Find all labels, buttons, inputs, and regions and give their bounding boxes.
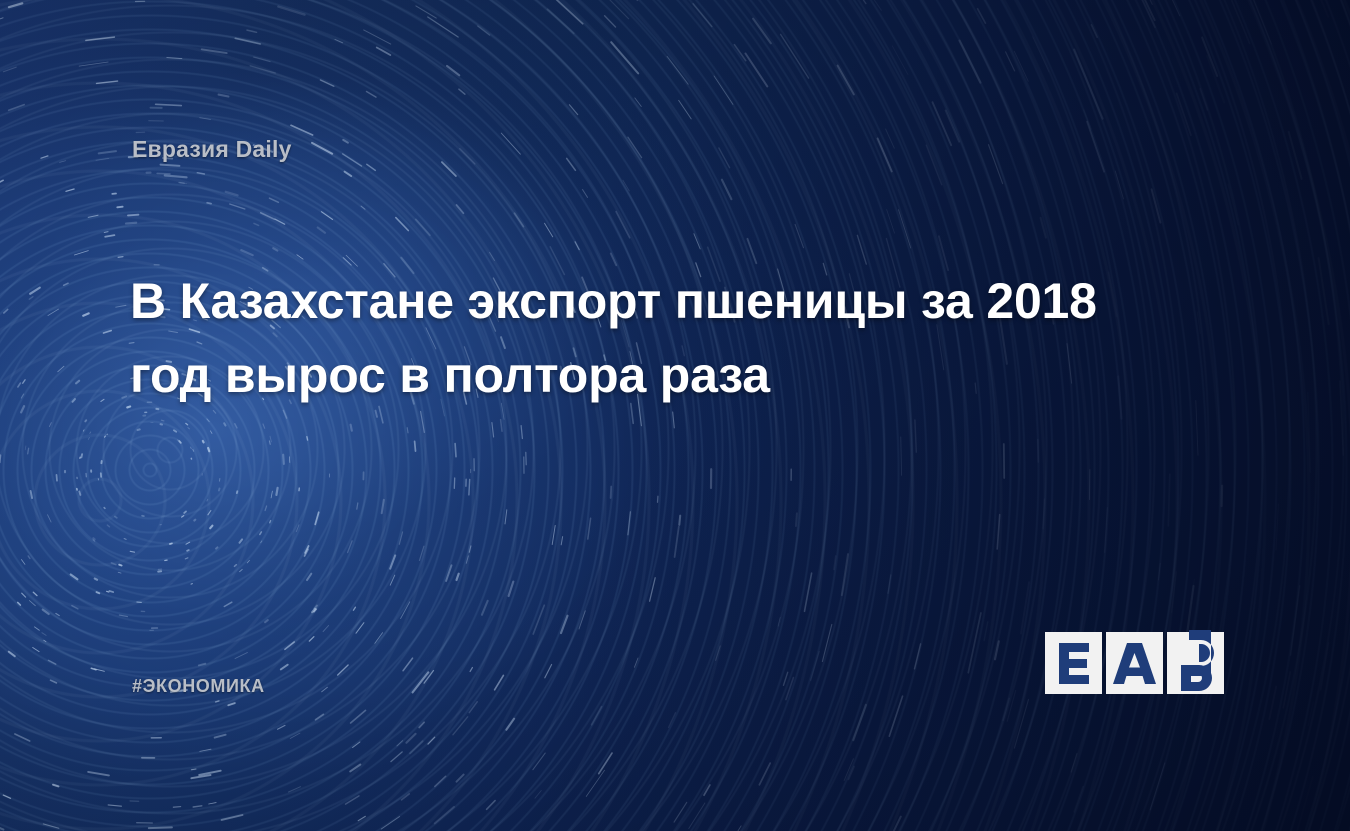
- letter-e-icon: [1045, 632, 1102, 694]
- category-tag: #ЭКОНОМИКА: [132, 676, 265, 697]
- headline-line-2: год вырос в полтора раза: [130, 338, 1220, 412]
- page-title: В Казахстане экспорт пшеницы за 2018 год…: [130, 264, 1220, 412]
- letter-d-icon: [1167, 632, 1224, 694]
- headline-line-1: В Казахстане экспорт пшеницы за 2018: [130, 264, 1220, 338]
- letter-a-icon: [1106, 632, 1163, 694]
- card-content: Евразия Daily В Казахстане экспорт пшени…: [0, 0, 1350, 831]
- site-name: Евразия Daily: [132, 136, 292, 163]
- ead-logo: [1045, 632, 1223, 694]
- news-share-card: Евразия Daily В Казахстане экспорт пшени…: [0, 0, 1350, 831]
